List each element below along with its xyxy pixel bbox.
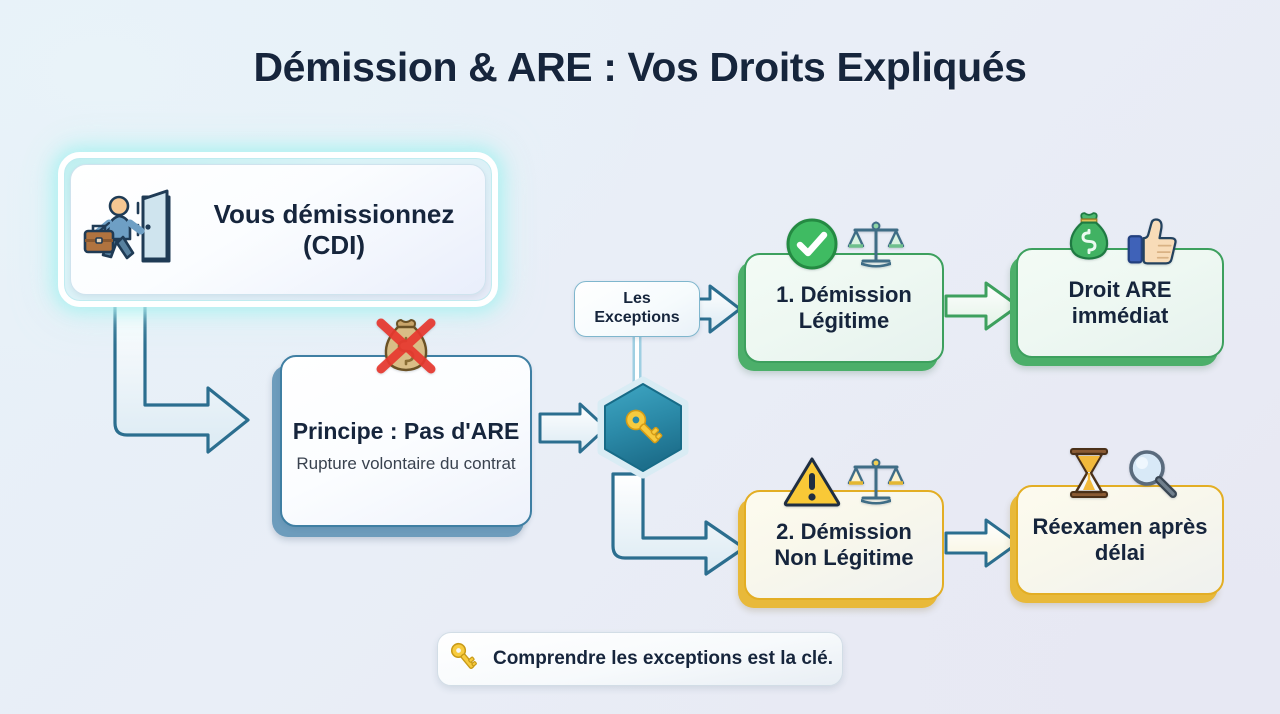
exceptions-label: Les Exceptions	[585, 290, 689, 328]
connector-nonlegitime-to-reexamen	[946, 520, 1018, 566]
connector-legitime-to-droit	[946, 283, 1018, 329]
resign-card: Vous démissionnez (CDI)	[70, 164, 486, 295]
connector-principe-to-hexagon	[540, 404, 606, 452]
connector-resign-to-principe	[115, 300, 248, 452]
legitime-card: 1. Démission Légitime	[744, 253, 944, 363]
nonlegitime-card: 2. Démission Non Légitime	[744, 490, 944, 600]
connector-hexagon-to-nonlegitime	[613, 474, 744, 574]
droit-label: Droit ARE immédiat	[1028, 277, 1212, 329]
footer-label: Comprendre les exceptions est la clé.	[493, 648, 833, 670]
exceptions-card: Les Exceptions	[574, 281, 700, 337]
droit-card: Droit ARE immédiat	[1016, 248, 1224, 358]
principe-sublabel: Rupture volontaire du contrat	[296, 454, 515, 474]
principe-card: Principe : Pas d'ARE Rupture volontaire …	[280, 355, 532, 527]
node-principe[interactable]: Principe : Pas d'ARE Rupture volontaire …	[280, 355, 532, 527]
infographic-canvas: Démission & ARE : Vos Droits Expliqués	[0, 0, 1280, 714]
node-droit-are[interactable]: Droit ARE immédiat	[1016, 248, 1224, 358]
node-resign[interactable]: Vous démissionnez (CDI)	[58, 152, 498, 307]
principe-label: Principe : Pas d'ARE	[293, 418, 520, 445]
person-exiting-door-icon	[81, 179, 177, 280]
nonlegitime-label: 2. Démission Non Légitime	[756, 519, 932, 571]
reexamen-card: Réexamen après délai	[1016, 485, 1224, 595]
key-icon	[447, 640, 481, 679]
resign-label: Vous démissionnez (CDI)	[193, 199, 475, 260]
hexagon-key-node[interactable]	[602, 381, 684, 474]
reexamen-label: Réexamen après délai	[1028, 514, 1212, 566]
legitime-label: 1. Démission Légitime	[756, 282, 932, 334]
footer-tip: Comprendre les exceptions est la clé.	[437, 632, 843, 686]
node-legitime[interactable]: 1. Démission Légitime	[744, 253, 944, 363]
node-non-legitime[interactable]: 2. Démission Non Légitime	[744, 490, 944, 600]
node-exceptions[interactable]: Les Exceptions	[574, 281, 700, 337]
node-reexamen[interactable]: Réexamen après délai	[1016, 485, 1224, 595]
